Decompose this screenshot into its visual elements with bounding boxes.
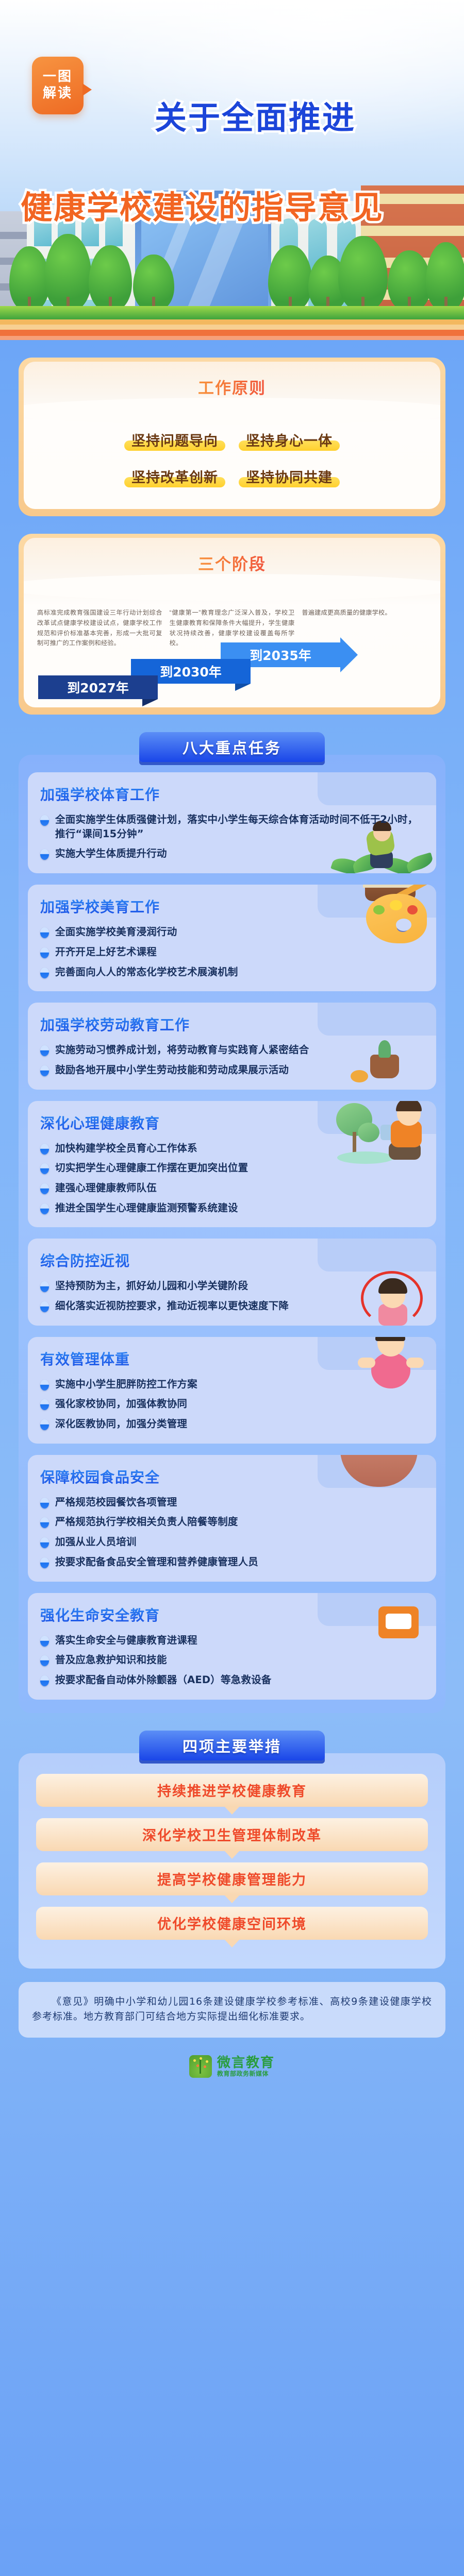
principle-item: 坚持问题导向 [124, 429, 225, 452]
bullet-dot-icon [40, 1163, 49, 1174]
task-bullet-text: 深化医教协同，加强分类管理 [55, 1417, 187, 1431]
bullet-dot-icon [40, 1557, 49, 1568]
task-bullet: 建强心理健康教师队伍 [40, 1181, 424, 1195]
tree [89, 245, 132, 311]
three-phases-title: 三个阶段 [198, 551, 266, 574]
task-title: 加强学校美育工作 [40, 896, 424, 917]
bullet-dot-icon [40, 1675, 49, 1686]
brand-footer: 微言教育 教育部政务新媒体 [0, 2055, 464, 2078]
closing-note: 《意见》明确中小学和幼儿园16条建设健康学校参考标准、高校9条建设健康学校参考标… [19, 1982, 445, 2038]
task-bullet-text: 落实生命安全与健康教育进课程 [55, 1633, 197, 1648]
three-phases-panel: 三个阶段 高标准完成教育强国建设三年行动计划综合改革试点健康学校建设试点，健康学… [19, 534, 445, 715]
bullet-dot-icon [40, 1380, 49, 1391]
tasks-section: 八大重点任务 加强学校体育工作 全面实施学生 [19, 732, 445, 1713]
tree [133, 255, 174, 311]
bullet-dot-icon [40, 1636, 49, 1647]
task-title: 强化生命安全教育 [40, 1604, 424, 1625]
task-bullet-text: 严格规范执行学校相关负责人陪餐等制度 [55, 1515, 238, 1529]
task-bullet: 普及应急救护知识和技能 [40, 1653, 424, 1667]
task-card-food-safety: 保障校园食品安全 严格规范校园餐饮各项管理 严格规范执行学校相关负责人陪餐等制度… [28, 1455, 436, 1582]
principle-item: 坚持协同共建 [239, 465, 340, 488]
bullet-dot-icon [40, 849, 49, 860]
phase-marker-2027-label: 到2027年 [67, 678, 129, 697]
task-title: 深化心理健康教育 [40, 1112, 424, 1133]
measures-body: 持续推进学校健康教育 深化学校卫生管理体制改革 提高学校健康管理能力 优化学校健… [19, 1753, 445, 1969]
task-bullet: 强化家校协同，加强体教协同 [40, 1397, 424, 1411]
task-bullet-text: 全面实施学校美育浸润行动 [55, 925, 177, 939]
task-bullet-text: 强化家校协同，加强体教协同 [55, 1397, 187, 1411]
task-bullet: 严格规范校园餐饮各项管理 [40, 1495, 424, 1510]
ground-strip [0, 319, 464, 325]
task-bullet: 开齐开足上好艺术课程 [40, 945, 424, 959]
bullet-dot-icon [40, 1065, 49, 1076]
tree [338, 236, 388, 311]
task-bullet-text: 推进全国学生心理健康监测预警系统建设 [55, 1201, 238, 1215]
phase-description-2027: 高标准完成教育强国建设三年行动计划综合改革试点健康学校建设试点，健康学校工作规范… [37, 608, 162, 649]
task-card-sports: 加强学校体育工作 全面实施学生体质强健计划，落实中小学生每天综合体育活动时间不低… [28, 772, 436, 873]
bullet-dot-icon [40, 1537, 49, 1548]
task-bullet-text: 严格规范校园餐饮各项管理 [55, 1495, 177, 1510]
task-title: 综合防控近视 [40, 1250, 424, 1270]
principles-row-1: 坚持问题导向 坚持身心一体 [24, 429, 440, 452]
bullet-dot-icon [40, 1183, 49, 1194]
task-title: 加强学校体育工作 [40, 784, 424, 804]
task-card-labour-education: 加强学校劳动教育工作 实施劳动习惯养成计划，将劳动教育与实践育人紧密结合 鼓励各… [28, 1003, 436, 1089]
bullet-dot-icon [40, 815, 49, 826]
bullet-dot-icon [40, 1301, 49, 1312]
work-principles-title: 工作原则 [198, 375, 266, 398]
task-title: 保障校园食品安全 [40, 1466, 424, 1487]
bullet-dot-icon [40, 1144, 49, 1155]
hero-title-line-1: 关于全面推进 [155, 92, 356, 138]
principle-item: 坚持改革创新 [124, 465, 225, 488]
closing-note-text: 《意见》明确中小学和幼儿园16条建设健康学校参考标准、高校9条建设健康学校参考标… [32, 1994, 432, 2025]
task-bullet: 切实把学生心理健康工作摆在更加突出位置 [40, 1161, 424, 1175]
tree [44, 234, 92, 311]
brand-name: 微言教育 [217, 2056, 275, 2070]
measure-label: 持续推进学校健康教育 [157, 1780, 307, 1800]
ground-strip [0, 325, 464, 330]
measure-item: 提高学校健康管理能力 [36, 1862, 428, 1895]
bullet-dot-icon [40, 1498, 49, 1509]
phase-timeline-arrows: 到2035年 到2030年 到2027年 [24, 652, 440, 699]
badge-line-2: 解读 [43, 86, 73, 101]
measures-section: 四项主要举措 持续推进学校健康教育 深化学校卫生管理体制改革 提高学校健康管理能… [19, 1731, 445, 1969]
bullet-dot-icon [40, 927, 49, 938]
task-bullet-text: 细化落实近视防控要求，推动近视率以更快速度下降 [55, 1299, 289, 1313]
task-bullet: 细化落实近视防控要求，推动近视率以更快速度下降 [40, 1299, 424, 1313]
task-bullet: 加强从业人员培训 [40, 1535, 424, 1549]
task-bullet-text: 完善面向人人的常态化学校艺术展演机制 [55, 965, 238, 979]
tasks-heading-tab: 八大重点任务 [139, 732, 325, 762]
infographic-page: 一图 解读 关于全面推进 健康学校建设的指导意见 工作原则 坚持问题导向 坚持身… [0, 0, 464, 2576]
task-card-myopia-prevention: 综合防控近视 坚持预防为主，抓好幼儿园和小学关键阶段 细化落实近视防控要求，推动… [28, 1239, 436, 1325]
bullet-dot-icon [40, 947, 49, 958]
task-bullet: 坚持预防为主，抓好幼儿园和小学关键阶段 [40, 1279, 424, 1293]
planting-illustration [346, 1031, 424, 1088]
bullet-dot-icon [40, 1204, 49, 1214]
hero-title-line-2: 健康学校建设的指导意见 [21, 181, 384, 228]
task-bullet: 实施劳动习惯养成计划，将劳动教育与实践育人紧密结合 [40, 1043, 424, 1057]
bullet-dot-icon [40, 1281, 49, 1292]
measure-label: 深化学校卫生管理体制改革 [142, 1824, 322, 1844]
task-bullet: 推进全国学生心理健康监测预警系统建设 [40, 1201, 424, 1215]
jump-rope-girl-illustration [354, 1264, 431, 1326]
phase-marker-2035-label: 到2035年 [250, 646, 311, 664]
tree [426, 242, 464, 311]
bullet-dot-icon [40, 1399, 49, 1410]
badge-line-1: 一图 [43, 70, 73, 85]
tree [268, 245, 312, 311]
measure-item: 深化学校卫生管理体制改革 [36, 1818, 428, 1851]
ground-strip [0, 336, 464, 340]
task-bullet-text: 按要求配备自动体外除颤器（AED）等急救设备 [55, 1673, 272, 1687]
principles-row-2: 坚持改革创新 坚持协同共建 [24, 465, 440, 488]
work-principles-panel: 工作原则 坚持问题导向 坚持身心一体 坚持改革创新 坚持协同共建 [19, 358, 445, 516]
work-principles-header: 工作原则 [24, 362, 440, 411]
tree [388, 250, 431, 311]
task-bullet: 鼓励各地开展中小学生劳动技能和劳动成果展示活动 [40, 1063, 424, 1077]
measures-heading-tab: 四项主要举措 [139, 1731, 325, 1760]
measure-label: 优化学校健康空间环境 [157, 1913, 307, 1933]
task-bullet-text: 开齐开足上好艺术课程 [55, 945, 157, 959]
hedge [0, 306, 464, 319]
tasks-body: 加强学校体育工作 全面实施学生体质强健计划，落实中小学生每天综合体育活动时间不低… [19, 755, 445, 1713]
phase-marker-2027: 到2027年 [38, 675, 158, 699]
tasks-heading-label: 八大重点任务 [183, 736, 281, 758]
phase-marker-2030-label: 到2030年 [160, 662, 222, 681]
bullet-dot-icon [40, 1517, 49, 1528]
task-card-mental-health: 深化心理健康教育 加快构建学校全员育心工作体系 切实把学生心理健康工作摆在更加突… [28, 1101, 436, 1228]
task-bullet: 深化医教协同，加强分类管理 [40, 1417, 424, 1431]
task-bullet-text: 鼓励各地开展中小学生劳动技能和劳动成果展示活动 [55, 1063, 289, 1077]
task-bullet-text: 全面实施学生体质强健计划，落实中小学生每天综合体育活动时间不低于2小时，推行“课… [55, 812, 424, 841]
task-bullet-text: 实施大学生体质提升行动 [55, 846, 167, 861]
three-phases-header: 三个阶段 [24, 538, 440, 587]
task-bullet: 落实生命安全与健康教育进课程 [40, 1633, 424, 1648]
task-bullet: 实施中小学生肥胖防控工作方案 [40, 1377, 424, 1392]
bullet-dot-icon [40, 968, 49, 978]
brand-subtitle: 教育部政务新媒体 [217, 2071, 275, 2077]
task-bullet-text: 实施劳动习惯养成计划，将劳动教育与实践育人紧密结合 [55, 1043, 309, 1057]
task-card-life-safety: 强化生命安全教育 落实生命安全与健康教育进课程 普及应急救护知识和技能 按要求配… [28, 1593, 436, 1700]
task-bullet: 加快构建学校全员育心工作体系 [40, 1141, 424, 1156]
task-card-weight-management: 有效管理体重 实施中小学生肥胖防控工作方案 强化家校协同，加强体教协同 深化医教… [28, 1337, 436, 1444]
task-title: 有效管理体重 [40, 1348, 424, 1369]
task-bullet-text: 普及应急救护知识和技能 [55, 1653, 167, 1667]
task-bullet: 实施大学生体质提升行动 [40, 846, 424, 861]
bullet-dot-icon [40, 1655, 49, 1666]
task-bullet: 全面实施学校美育浸润行动 [40, 925, 424, 939]
bullet-dot-icon [40, 1045, 49, 1056]
task-bullet-text: 加强从业人员培训 [55, 1535, 137, 1549]
tree [9, 246, 49, 311]
task-bullet: 按要求配备自动体外除颤器（AED）等急救设备 [40, 1673, 424, 1687]
hero-banner: 一图 解读 关于全面推进 健康学校建设的指导意见 [0, 0, 464, 340]
task-bullet-text: 加快构建学校全员育心工作体系 [55, 1141, 197, 1156]
task-bullet: 全面实施学生体质强健计划，落实中小学生每天综合体育活动时间不低于2小时，推行“课… [40, 812, 424, 841]
task-bullet-text: 实施中小学生肥胖防控工作方案 [55, 1377, 197, 1392]
task-title: 加强学校劳动教育工作 [40, 1014, 424, 1035]
weiyan-jiaoyu-logo-icon [189, 2055, 212, 2078]
task-bullet: 完善面向人人的常态化学校艺术展演机制 [40, 965, 424, 979]
task-bullet: 严格规范执行学校相关负责人陪餐等制度 [40, 1515, 424, 1529]
measure-item: 持续推进学校健康教育 [36, 1774, 428, 1807]
measure-item: 优化学校健康空间环境 [36, 1907, 428, 1940]
measures-heading-label: 四项主要举措 [183, 1735, 281, 1756]
task-bullet-text: 按要求配备食品安全管理和营养健康管理人员 [55, 1555, 258, 1569]
ground-strip [0, 330, 464, 336]
task-bullet: 按要求配备食品安全管理和营养健康管理人员 [40, 1555, 424, 1569]
task-bullet-text: 建强心理健康教师队伍 [55, 1181, 157, 1195]
bullet-dot-icon [40, 1419, 49, 1430]
yitu-jiedu-badge: 一图 解读 [32, 57, 84, 114]
task-bullet-text: 坚持预防为主，抓好幼儿园和小学关键阶段 [55, 1279, 248, 1293]
task-bullet-text: 切实把学生心理健康工作摆在更加突出位置 [55, 1161, 248, 1175]
principle-item: 坚持身心一体 [239, 429, 340, 452]
measure-label: 提高学校健康管理能力 [157, 1869, 307, 1889]
task-card-aesthetic-education: 加强学校美育工作 全面实施学校美育浸润行动 开齐开足上好艺术课程 完善面向人人的… [28, 885, 436, 991]
